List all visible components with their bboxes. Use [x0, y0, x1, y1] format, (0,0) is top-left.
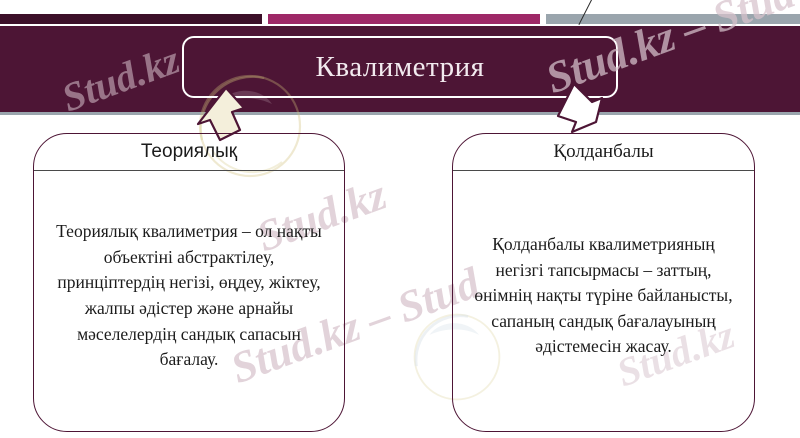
slide-canvas: Квалиметрия Stud.kz – Stud Stud.kz Stud.…: [0, 0, 800, 438]
applied-box-text: Қолданбалы квалиметрияның негізгі тапсыр…: [469, 232, 738, 360]
theoretical-box-header: Теориялық: [34, 134, 344, 171]
right-arrow-icon: [552, 82, 604, 138]
applied-box-title: Қолданбалы: [553, 141, 653, 163]
page-title: Квалиметрия: [316, 51, 485, 84]
theoretical-box: Теориялық Теориялық квалиметрия – ол нақ…: [33, 133, 345, 432]
theoretical-box-title: Теориялық: [141, 141, 237, 163]
applied-box-header: Қолданбалы: [453, 134, 754, 171]
theoretical-box-text: Теориялық квалиметрия – ол нақты объекті…: [50, 219, 328, 372]
topbar-dark: [0, 14, 262, 24]
banner-underline: [0, 112, 800, 115]
theoretical-box-body: Теориялық квалиметрия – ол нақты объекті…: [34, 171, 344, 431]
topbar-pink: [268, 14, 540, 24]
applied-box-body: Қолданбалы квалиметрияның негізгі тапсыр…: [453, 171, 754, 431]
applied-box: Қолданбалы Қолданбалы квалиметрияның нег…: [452, 133, 755, 432]
